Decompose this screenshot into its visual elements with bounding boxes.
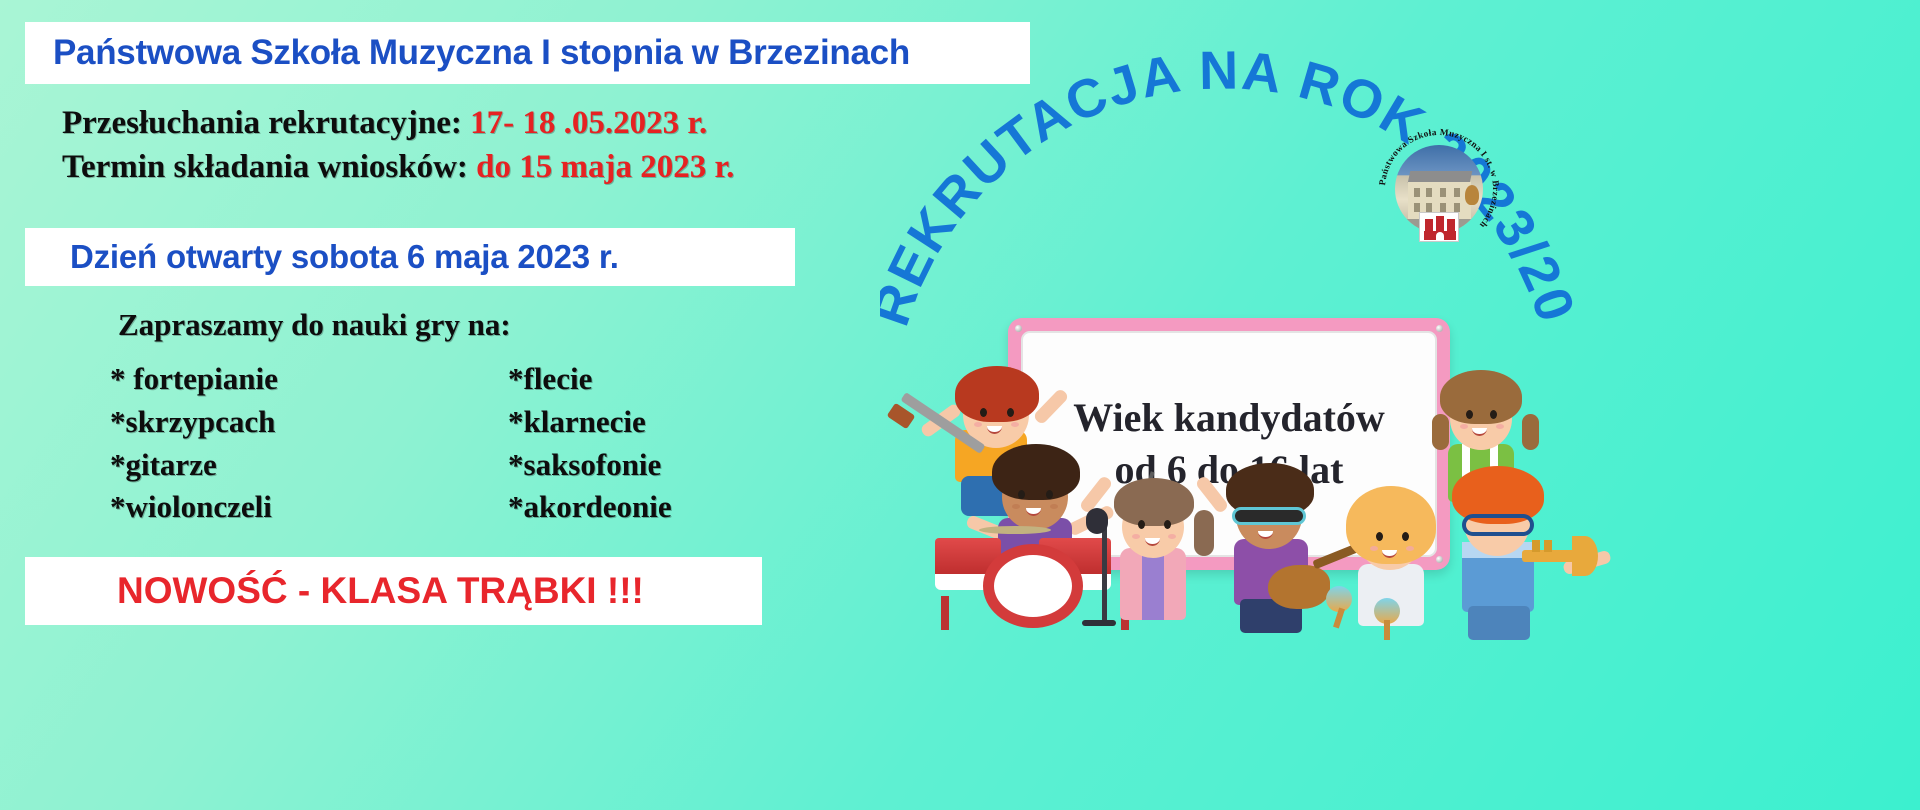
list-item: *klarnecie bbox=[508, 401, 672, 444]
brzeziny-coat-of-arms-icon bbox=[1419, 212, 1459, 242]
recruitment-poster: Państwowa Szkoła Muzyczna I stopnia w Br… bbox=[0, 0, 1920, 810]
audition-date-label: Przesłuchania rekrutacyjne: bbox=[62, 105, 462, 141]
application-deadline-label: Termin składania wniosków: bbox=[62, 149, 468, 185]
list-item: *akordeonie bbox=[508, 486, 672, 529]
sunglasses-icon bbox=[1232, 507, 1306, 525]
page-title: Państwowa Szkoła Muzyczna I stopnia w Br… bbox=[25, 33, 910, 73]
kid-singer-illustration bbox=[1090, 448, 1220, 628]
list-item: *wiolonczeli bbox=[110, 486, 278, 529]
school-logo: Państwowa Szkoła Muzyczna I st. w Brzezi… bbox=[1378, 128, 1500, 250]
application-deadline-value: do 15 maja 2023 r. bbox=[476, 149, 734, 185]
open-day-text: Dzień otwarty sobota 6 maja 2023 r. bbox=[25, 238, 619, 276]
school-title-banner: Państwowa Szkoła Muzyczna I stopnia w Br… bbox=[25, 22, 1030, 84]
list-item: *saksofonie bbox=[508, 444, 672, 487]
instrument-list-right: *flecie *klarnecie *saksofonie *akordeon… bbox=[508, 358, 672, 529]
kids-band-illustration bbox=[880, 330, 1920, 630]
list-item: *gitarze bbox=[110, 444, 278, 487]
acoustic-guitar-icon bbox=[1268, 565, 1330, 609]
instrument-list-left: * fortepianie *skrzypcach *gitarze *wiol… bbox=[110, 358, 278, 529]
new-trumpet-class-text: NOWOŚĆ - KLASA TRĄBKI !!! bbox=[25, 570, 644, 612]
eyeglasses-icon bbox=[1462, 514, 1534, 536]
invitation-text: Zapraszamy do nauki gry na: bbox=[118, 307, 511, 343]
open-day-banner: Dzień otwarty sobota 6 maja 2023 r. bbox=[25, 228, 795, 286]
audition-date-line: Przesłuchania rekrutacyjne: 17- 18 .05.2… bbox=[62, 102, 734, 146]
list-item: *flecie bbox=[508, 358, 672, 401]
kid-trumpet-illustration bbox=[1440, 438, 1595, 630]
audition-date-value: 17- 18 .05.2023 r. bbox=[470, 105, 707, 141]
list-item: * fortepianie bbox=[110, 358, 278, 401]
application-deadline-line: Termin składania wniosków: do 15 maja 20… bbox=[62, 146, 734, 190]
list-item: *skrzypcach bbox=[110, 401, 278, 444]
new-trumpet-class-banner: NOWOŚĆ - KLASA TRĄBKI !!! bbox=[25, 557, 762, 625]
key-dates-block: Przesłuchania rekrutacyjne: 17- 18 .05.2… bbox=[62, 102, 734, 190]
